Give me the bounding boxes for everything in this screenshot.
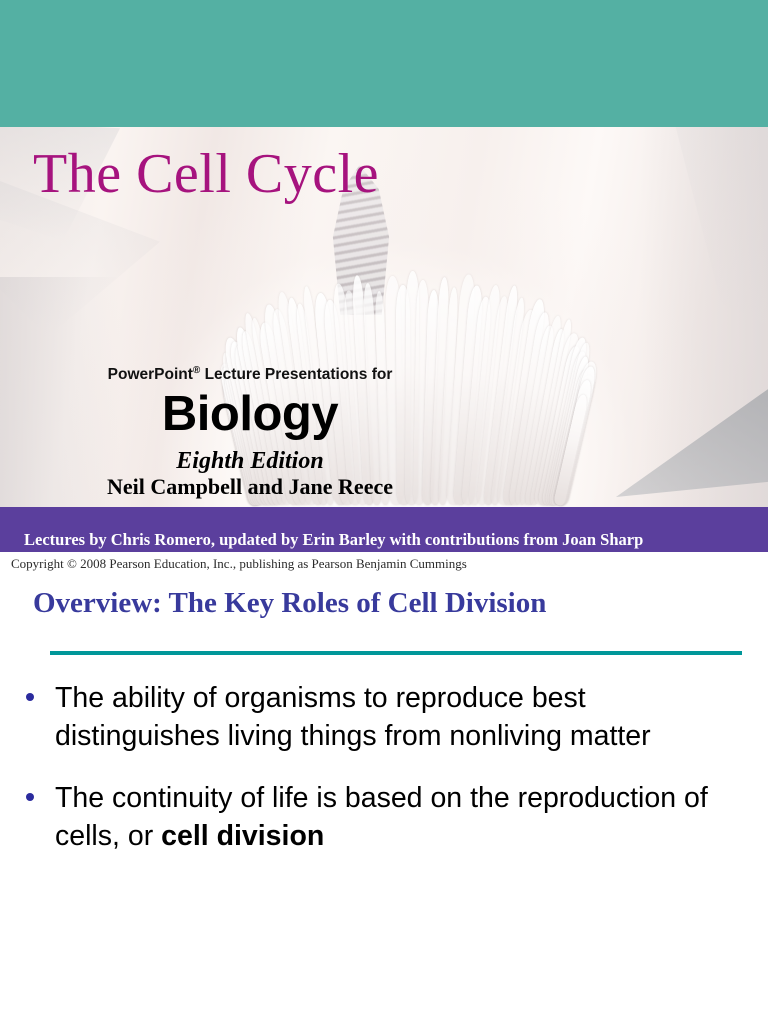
bullet-text: The ability of organisms to reproduce be…	[55, 682, 651, 752]
teal-header-band	[0, 0, 768, 127]
bullet-dot-icon	[26, 793, 34, 801]
book-title: Biology	[0, 386, 500, 442]
section-heading: Overview: The Key Roles of Cell Division	[33, 587, 546, 620]
powerpoint-suffix: Lecture Presentations for	[200, 366, 392, 383]
bullet-lead: The continuity of life is based on the r…	[55, 782, 708, 852]
credits-band: Lectures by Chris Romero, updated by Eri…	[0, 507, 768, 552]
powerpoint-lecture-line: PowerPoint® Lecture Presentations for	[0, 365, 500, 384]
slide-page: The Cell Cycle PowerPoint® Lecture Prese…	[0, 0, 768, 1024]
title-slide: The Cell Cycle PowerPoint® Lecture Prese…	[0, 0, 768, 580]
list-item: The continuity of life is based on the r…	[0, 780, 768, 856]
powerpoint-prefix: PowerPoint	[108, 366, 193, 383]
bullet-lead: The ability of organisms to reproduce be…	[55, 682, 651, 752]
heading-rule	[50, 651, 742, 655]
list-item: The ability of organisms to reproduce be…	[0, 680, 768, 756]
credits-text: Lectures by Chris Romero, updated by Eri…	[24, 530, 643, 550]
copyright-notice: Copyright © 2008 Pearson Education, Inc.…	[11, 556, 467, 572]
bullet-list: The ability of organisms to reproduce be…	[0, 680, 768, 880]
book-edition: Eighth Edition	[0, 448, 500, 475]
bullet-emphasis: cell division	[161, 820, 324, 852]
deck-title: The Cell Cycle	[33, 146, 379, 202]
book-authors: Neil Campbell and Jane Reece	[0, 474, 500, 500]
bullet-text: The continuity of life is based on the r…	[55, 782, 708, 852]
bullet-dot-icon	[26, 693, 34, 701]
content-slide: Overview: The Key Roles of Cell Division…	[0, 580, 768, 1024]
